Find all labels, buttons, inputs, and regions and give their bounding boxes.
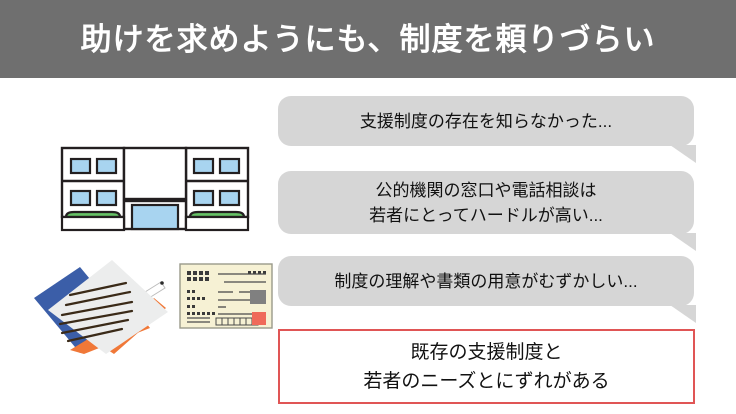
public-institution-building-illustration — [58, 143, 252, 238]
bubble-tail-icon — [670, 305, 696, 323]
bubble-2-line-2: 若者にとってハードルが高い... — [369, 203, 603, 228]
bubble-2-line-1: 公的機関の窓口や電話相談は — [376, 178, 597, 203]
slide-canvas: 助けを求めようにも、制度を頼りづらい — [0, 0, 736, 414]
header-bar: 助けを求めようにも、制度を頼りづらい — [0, 0, 736, 78]
application-documents-illustration — [28, 250, 276, 360]
complaint-bubble-2: 公的機関の窓口や電話相談は 若者にとってハードルが高い... — [278, 171, 694, 234]
conclusion-line-1: 既存の支援制度と — [410, 338, 562, 367]
complaint-bubble-1: 支援制度の存在を知らなかった... — [278, 96, 694, 146]
bubble-tail-icon — [670, 145, 696, 163]
bubble-tail-icon — [670, 233, 696, 251]
complaint-bubble-3: 制度の理解や書類の用意がむずかしい... — [278, 256, 694, 306]
bubble-3-line-1: 制度の理解や書類の用意がむずかしい... — [334, 269, 637, 294]
page-title: 助けを求めようにも、制度を頼りづらい — [80, 24, 655, 55]
conclusion-box: 既存の支援制度と 若者のニーズとにずれがある — [278, 329, 695, 404]
bubble-1-line-1: 支援制度の存在を知らなかった... — [360, 109, 612, 134]
conclusion-line-2: 若者のニーズとにずれがある — [363, 367, 609, 396]
